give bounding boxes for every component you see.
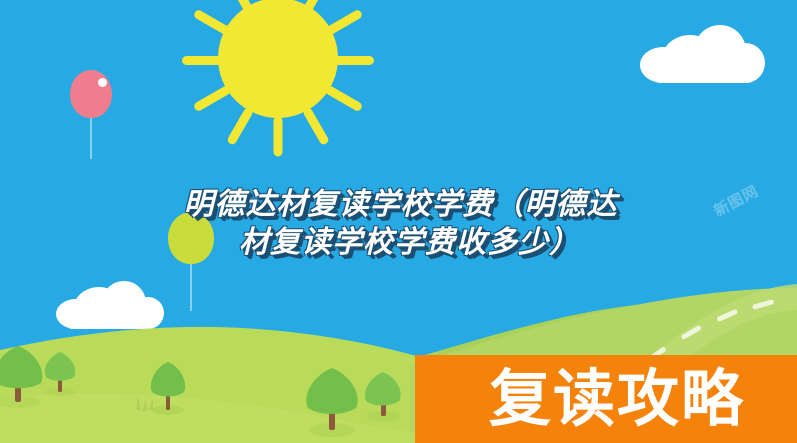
title-line-2: 材复读学校学费收多少）	[118, 224, 683, 262]
page-title: 明德达材复读学校学费（明德达 材复读学校学费收多少）	[118, 186, 683, 262]
banner-strip: 复读攻略	[415, 355, 797, 443]
title-line-1: 明德达材复读学校学费（明德达	[118, 186, 683, 224]
banner-label: 复读攻略	[467, 368, 745, 430]
poster-canvas: 复读攻略 明德达材复读学校学费（明德达 材复读学校学费收多少） 新图网	[0, 0, 797, 443]
